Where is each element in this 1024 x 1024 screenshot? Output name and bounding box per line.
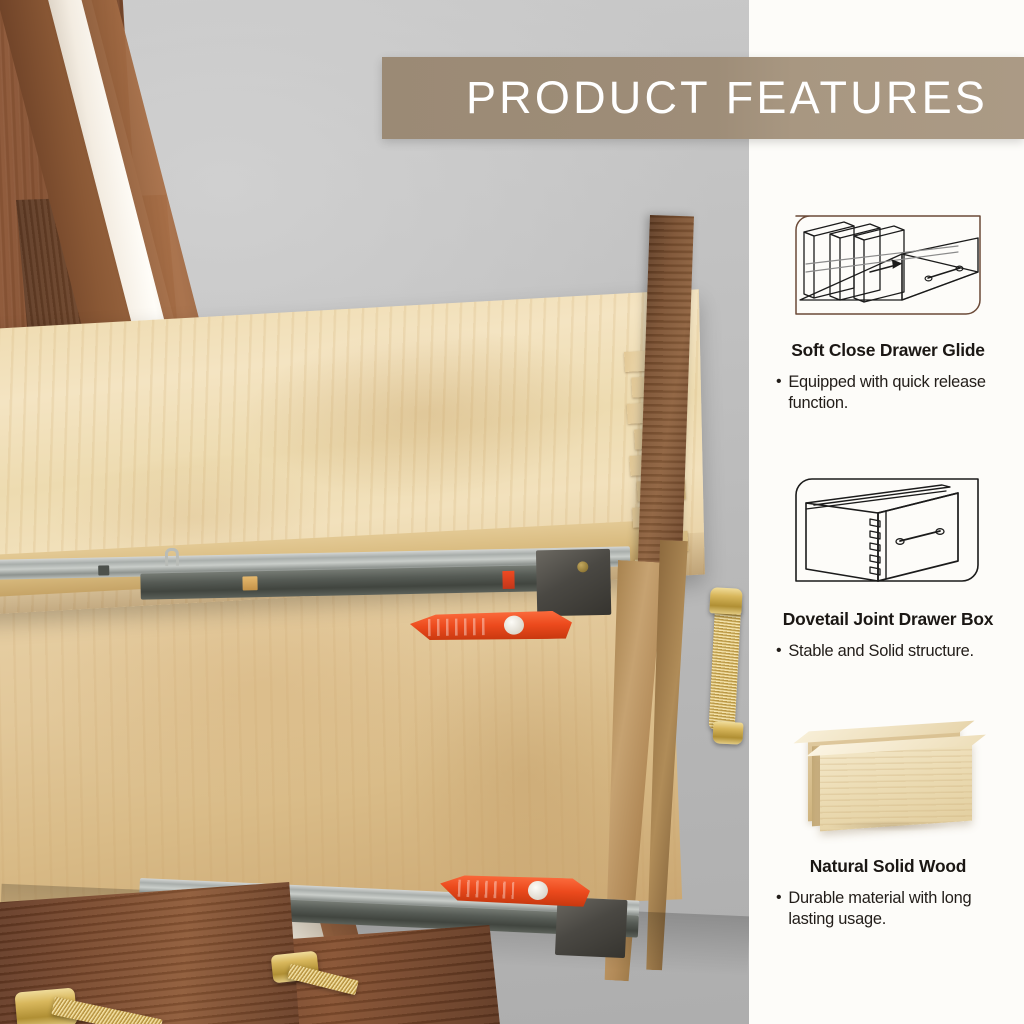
rail-red-chip (502, 571, 514, 589)
quick-release-lever-upper (410, 607, 573, 646)
rail-mounting-hole (98, 565, 109, 575)
feature-bullet: • Durable material with long lasting usa… (776, 888, 1014, 931)
wood-planks-icon (762, 704, 1014, 852)
product-photo (0, 0, 749, 1024)
brass-handle-right-cap-top (709, 587, 742, 615)
feature-list: Soft Close Drawer Glide • Equipped with … (762, 188, 1014, 931)
feature-bullet-text: Equipped with quick release function. (788, 372, 1014, 415)
drawer-glide-icon (762, 188, 1014, 336)
feature-bullet-text: Stable and Solid structure. (788, 641, 974, 662)
lever-grip-ribs (458, 880, 515, 899)
rail-hook (165, 548, 179, 566)
bullet-marker: • (776, 641, 781, 662)
feature-spacer-1 (762, 415, 1014, 457)
bullet-marker: • (776, 372, 781, 415)
rail-brass-tab (242, 576, 257, 590)
brass-handle-right-cap-bottom (712, 721, 743, 745)
feature-bullet: • Equipped with quick release function. (776, 372, 1014, 415)
feature-bullet: • Stable and Solid structure. (776, 641, 1014, 662)
wood-plank-shadow (800, 818, 980, 834)
bullet-marker: • (776, 888, 781, 931)
feature-title: Dovetail Joint Drawer Box (762, 609, 1014, 630)
banner-title: PRODUCT FEATURES (418, 72, 988, 124)
infographic-canvas: PRODUCT FEATURES (0, 0, 1024, 1024)
lever-grip-ribs (428, 618, 490, 636)
feature-item-soft-close-drawer-glide: Soft Close Drawer Glide • Equipped with … (762, 188, 1014, 415)
feature-spacer-2 (762, 662, 1014, 704)
cabinet-interior-maple (0, 570, 682, 926)
dovetail-drawer-box-icon (762, 457, 1014, 605)
wood-planks-illustration (790, 722, 986, 834)
feature-item-dovetail-joint-drawer-box: Dovetail Joint Drawer Box • Stable and S… (762, 457, 1014, 662)
quick-release-lever-lower (439, 869, 590, 909)
product-features-banner: PRODUCT FEATURES (382, 57, 1024, 139)
feature-title: Natural Solid Wood (762, 856, 1014, 877)
feature-item-natural-solid-wood: Natural Solid Wood • Durable material wi… (762, 704, 1014, 931)
feature-bullet-text: Durable material with long lasting usage… (788, 888, 1014, 931)
feature-title: Soft Close Drawer Glide (762, 340, 1014, 361)
